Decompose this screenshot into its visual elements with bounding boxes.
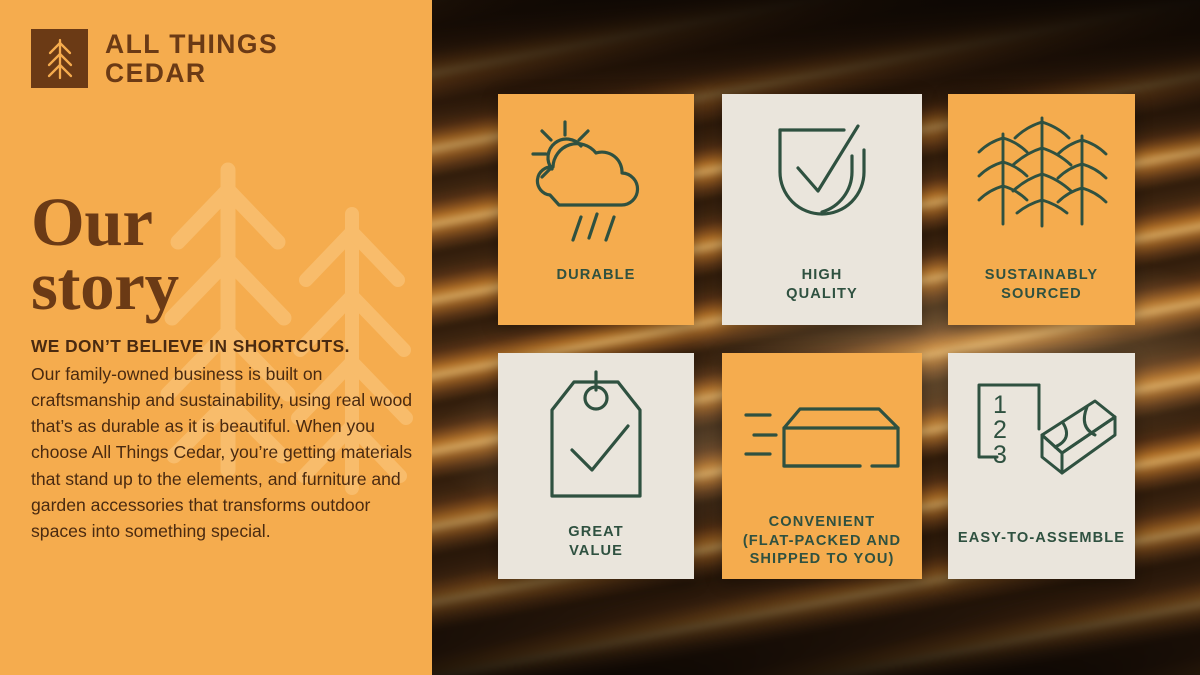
feature-card-grid: DURABLE HIGH QUALITY [0,0,1200,675]
feature-card-label: EASY-TO-ASSEMBLE [948,529,1135,548]
feature-card-sustainably-sourced[interactable]: SUSTAINABLY SOURCED [948,94,1135,325]
instructions-plank-icon: 1 2 3 [948,353,1135,525]
feature-card-convenient[interactable]: CONVENIENT (FLAT-PACKED AND SHIPPED TO Y… [722,353,922,579]
feature-card-easy-to-assemble[interactable]: 1 2 3 EASY-TO-ASSEMBLE [948,353,1135,579]
feature-card-great-value[interactable]: GREAT VALUE [498,353,694,579]
three-pine-trees-icon [948,94,1135,262]
svg-text:3: 3 [993,441,1007,469]
feature-card-label: HIGH QUALITY [722,266,922,303]
shield-check-icon [722,94,922,262]
sun-cloud-rain-icon [498,94,694,264]
feature-card-label: GREAT VALUE [498,523,694,560]
flat-pack-box-icon [722,353,922,513]
feature-card-label: DURABLE [498,266,694,285]
slide-canvas: ALL THINGS CEDAR Our story WE DON’T BELI… [0,0,1200,675]
feature-card-label: SUSTAINABLY SOURCED [948,266,1135,303]
price-tag-check-icon [498,353,694,521]
feature-card-label: CONVENIENT (FLAT-PACKED AND SHIPPED TO Y… [722,513,922,569]
feature-card-high-quality[interactable]: HIGH QUALITY [722,94,922,325]
feature-card-durable[interactable]: DURABLE [498,94,694,325]
svg-text:2: 2 [993,416,1007,444]
svg-text:1: 1 [993,391,1007,419]
